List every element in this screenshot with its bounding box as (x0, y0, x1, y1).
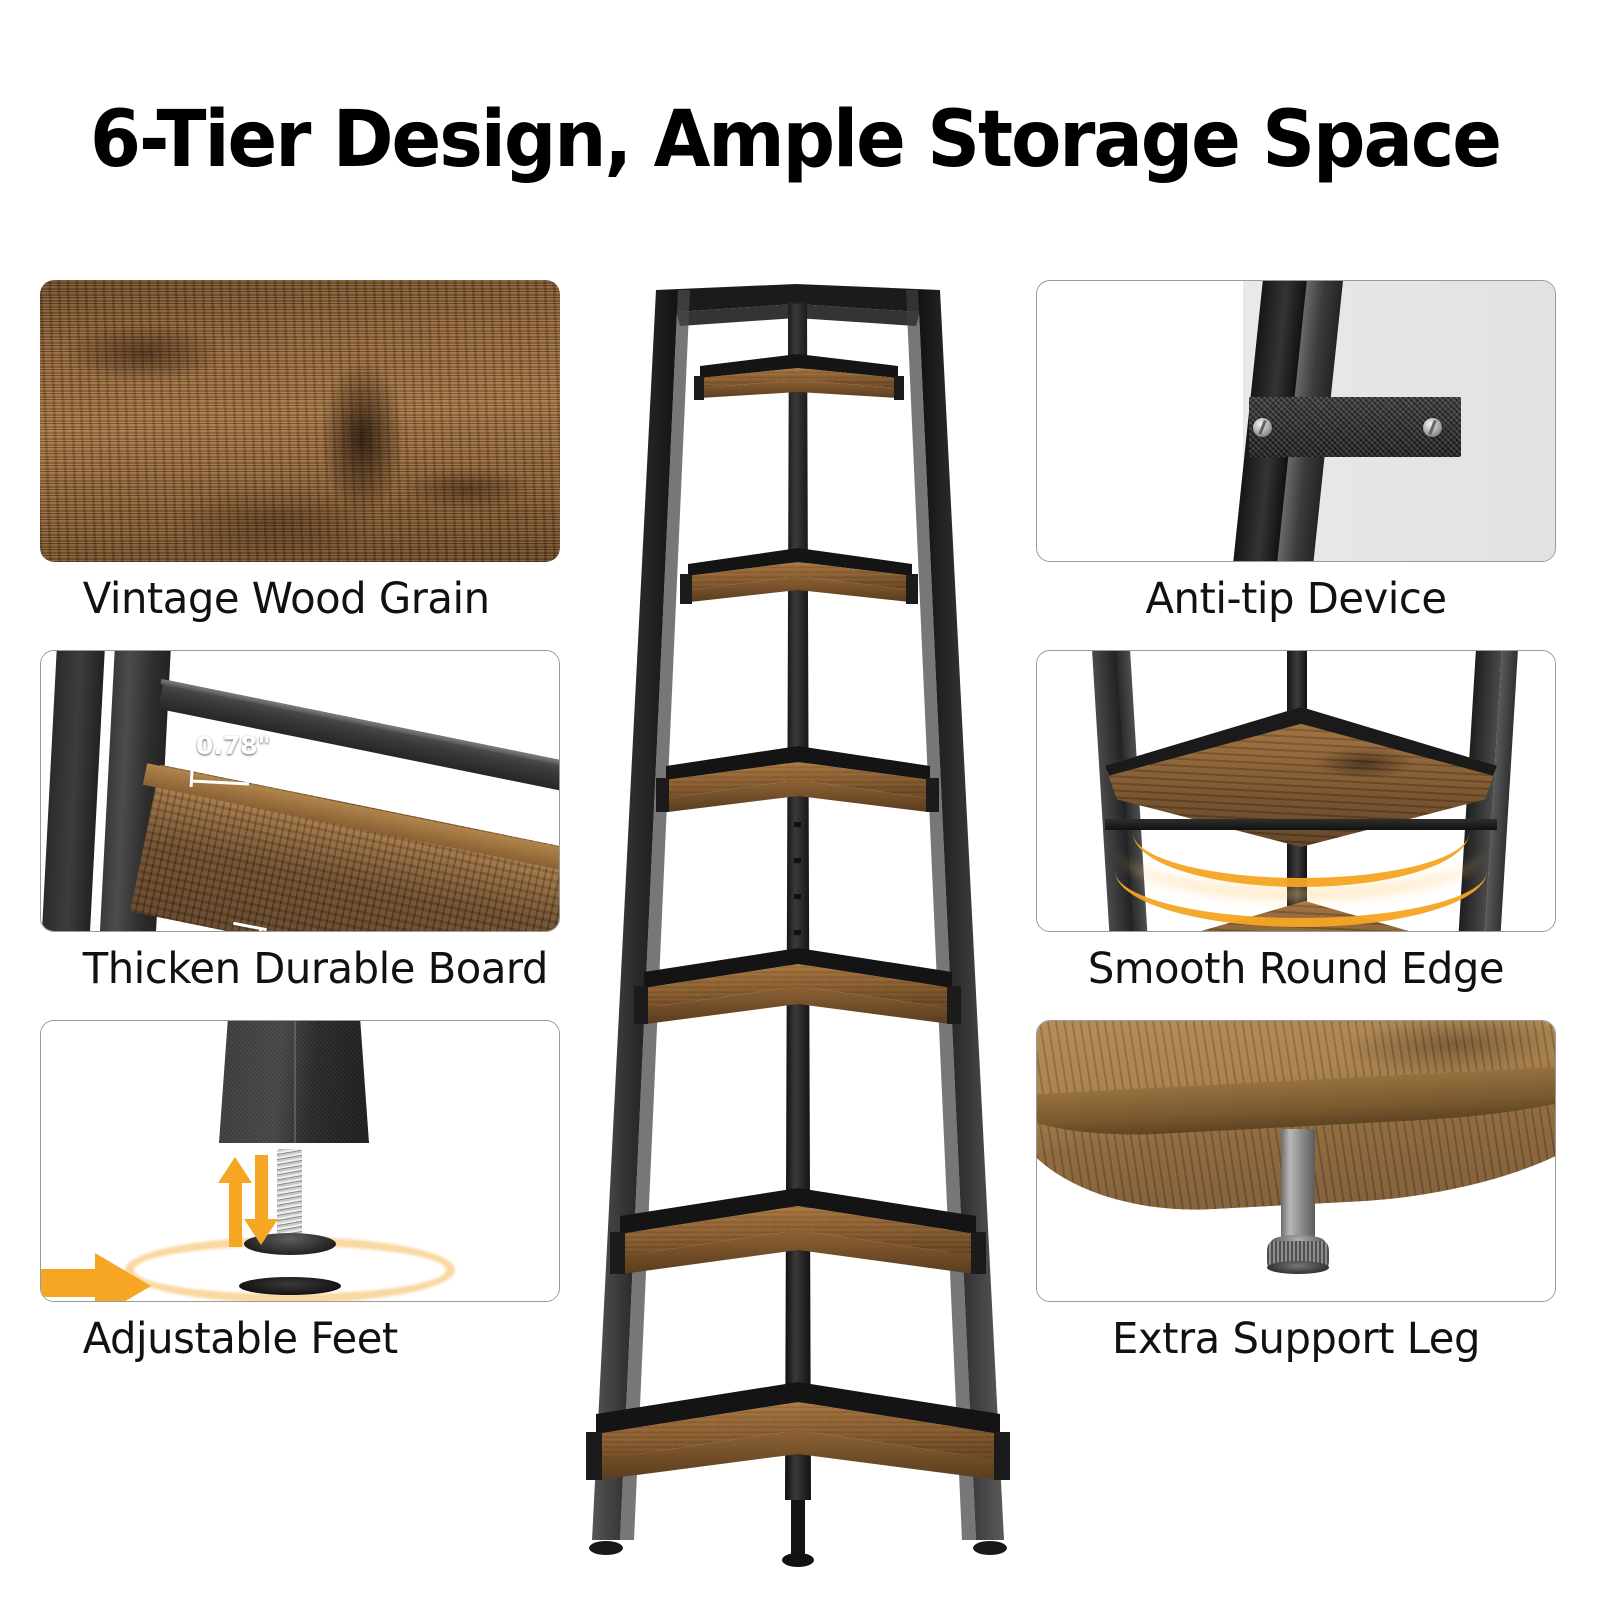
adjustable-feet-image (40, 1020, 560, 1302)
arrow-up-icon (218, 1157, 252, 1183)
feature-caption-anti-tip-device: Anti-tip Device (1044, 562, 1548, 636)
dimension-label-078: 0.78" (196, 731, 271, 760)
feature-caption-smooth-round-edge: Smooth Round Edge (1044, 932, 1548, 1006)
feature-anti-tip-device: Anti-tip Device (1036, 280, 1556, 636)
leg-center (785, 304, 811, 1500)
table-leg-edge (294, 1020, 296, 1143)
feature-caption-extra-support-leg: Extra Support Leg (1044, 1302, 1548, 1376)
anti-tip-device-image (1036, 280, 1556, 562)
strap-screw-right (1423, 418, 1442, 437)
feature-caption-thicken-durable-board: Thicken Durable Board (48, 932, 552, 1006)
foot-left (589, 1541, 623, 1555)
arrow-rotate-stem (40, 1269, 101, 1297)
thicken-durable-board-image: 0.78" 0.59" (40, 650, 560, 932)
feature-caption-adjustable-feet: Adjustable Feet (48, 1302, 552, 1376)
vintage-wood-grain-image (40, 280, 560, 562)
foot-center (782, 1553, 814, 1567)
threaded-screw (277, 1149, 302, 1239)
extra-support-leg-image (1036, 1020, 1556, 1302)
adjustable-foot-icon (41, 1021, 559, 1301)
support-leg-foot-base (1267, 1261, 1329, 1274)
foot-knob-base (239, 1277, 341, 1295)
frame-post-back (41, 650, 105, 932)
round-edge-arc-lower (1115, 815, 1487, 927)
feature-caption-vintage-wood-grain: Vintage Wood Grain (48, 562, 552, 636)
feature-vintage-wood-grain: Vintage Wood Grain (40, 280, 560, 636)
arrow-up-stem (229, 1181, 242, 1247)
feature-adjustable-feet: Adjustable Feet (40, 1020, 560, 1376)
wood-swatch-icon (40, 280, 560, 562)
foot-right (973, 1541, 1007, 1555)
smooth-round-edge-image (1036, 650, 1556, 932)
arrow-down-stem (255, 1155, 268, 1221)
feature-smooth-round-edge: Smooth Round Edge (1036, 650, 1556, 1006)
arrow-down-icon (244, 1219, 278, 1245)
feature-thicken-durable-board: 0.78" 0.59" Thicken Durable Board (40, 650, 560, 1006)
arrow-rotate-icon (95, 1253, 151, 1302)
board-thickness-icon: 0.78" 0.59" (41, 651, 559, 931)
feature-extra-support-leg: Extra Support Leg (1036, 1020, 1556, 1376)
page-title: 6-Tier Design, Ample Storage Space (90, 96, 1425, 184)
support-leg-icon (1037, 1021, 1555, 1301)
round-edge-shelf-icon (1037, 651, 1555, 931)
center-support-leg (791, 1500, 805, 1556)
strap-screw-left (1253, 418, 1272, 437)
left-feature-column: Vintage Wood Grain 0.78" (40, 280, 560, 1390)
product-image-corner-ladder-shelf (548, 282, 1048, 1582)
right-feature-column: Anti-tip Device Smooth Round Edge (1036, 280, 1556, 1390)
support-leg-post (1281, 1129, 1315, 1245)
